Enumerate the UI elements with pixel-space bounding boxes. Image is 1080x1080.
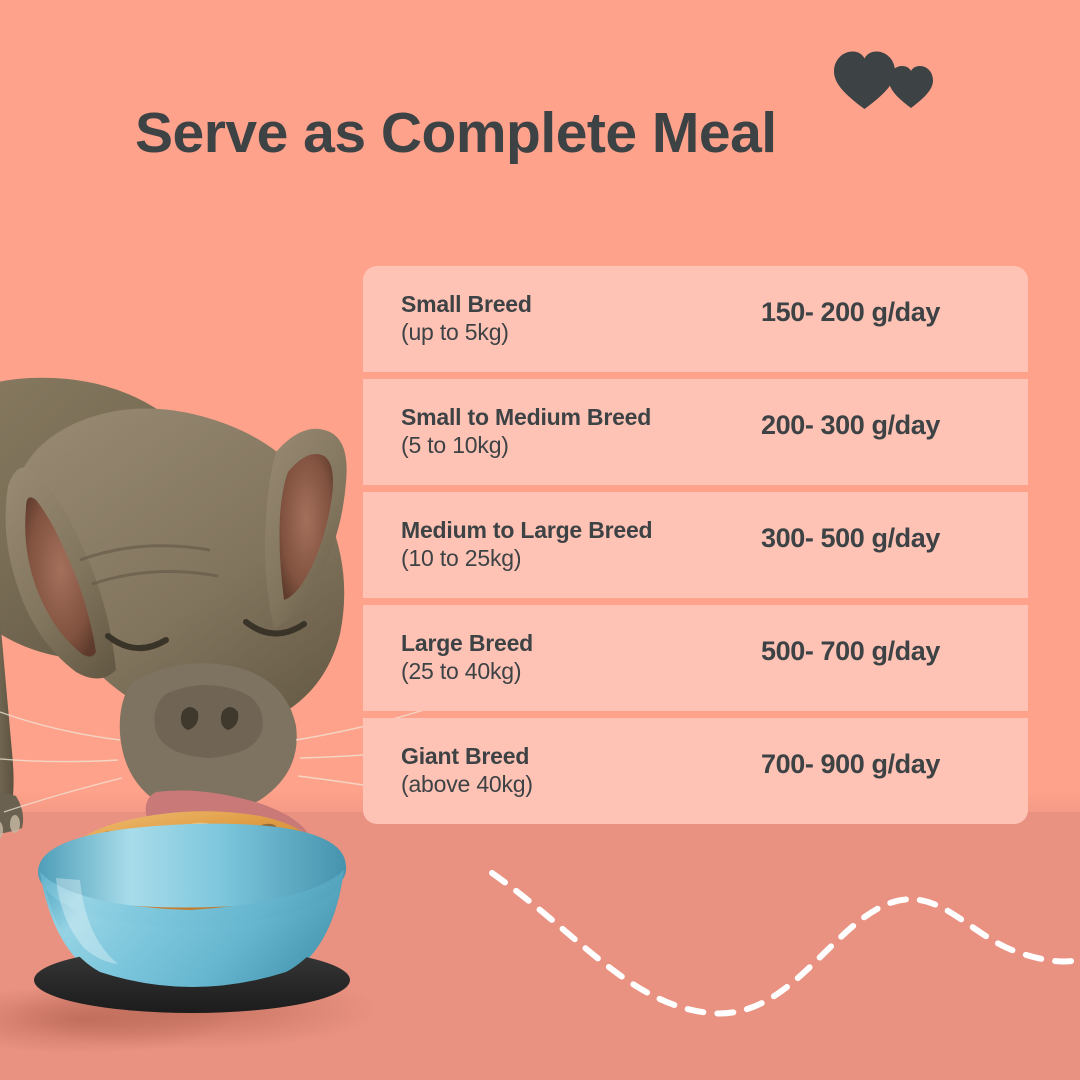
amount-value: 200- 300 g/day [761,410,940,441]
amount-value: 300- 500 g/day [761,523,940,554]
amount-value: 150- 200 g/day [761,297,940,328]
page-title: Serve as Complete Meal [135,104,995,164]
breed-name: Large Breed [401,629,761,658]
breed-cell: Medium to Large Breed (10 to 25kg) [401,516,761,575]
amount-value: 500- 700 g/day [761,636,940,667]
breed-cell: Giant Breed (above 40kg) [401,742,761,801]
table-row[interactable]: Large Breed (25 to 40kg) 500- 700 g/day [363,605,1028,711]
breed-weight: (25 to 40kg) [401,657,761,687]
hearts-decoration [833,48,933,110]
dog-nose [154,685,262,758]
table-row[interactable]: Small to Medium Breed (5 to 10kg) 200- 3… [363,379,1028,485]
breed-cell: Large Breed (25 to 40kg) [401,629,761,688]
heart-icon [889,66,933,108]
breed-weight: (up to 5kg) [401,318,761,348]
table-row[interactable]: Small Breed (up to 5kg) 150- 200 g/day [363,266,1028,372]
breed-name: Medium to Large Breed [401,516,761,545]
table-row[interactable]: Medium to Large Breed (10 to 25kg) 300- … [363,492,1028,598]
breed-weight: (above 40kg) [401,770,761,800]
breed-weight: (5 to 10kg) [401,431,761,461]
dashed-wave-line [460,845,1080,1025]
table-row[interactable]: Giant Breed (above 40kg) 700- 900 g/day [363,718,1028,824]
breed-cell: Small Breed (up to 5kg) [401,290,761,349]
breed-name: Small Breed [401,290,761,319]
breed-weight: (10 to 25kg) [401,544,761,574]
breed-name: Small to Medium Breed [401,403,761,432]
breed-name: Giant Breed [401,742,761,771]
heart-icon [834,52,895,110]
feeding-guide-table: Small Breed (up to 5kg) 150- 200 g/day S… [363,266,1028,824]
amount-value: 700- 900 g/day [761,749,940,780]
poster-canvas: Serve as Complete Meal [0,0,1080,1080]
breed-cell: Small to Medium Breed (5 to 10kg) [401,403,761,462]
